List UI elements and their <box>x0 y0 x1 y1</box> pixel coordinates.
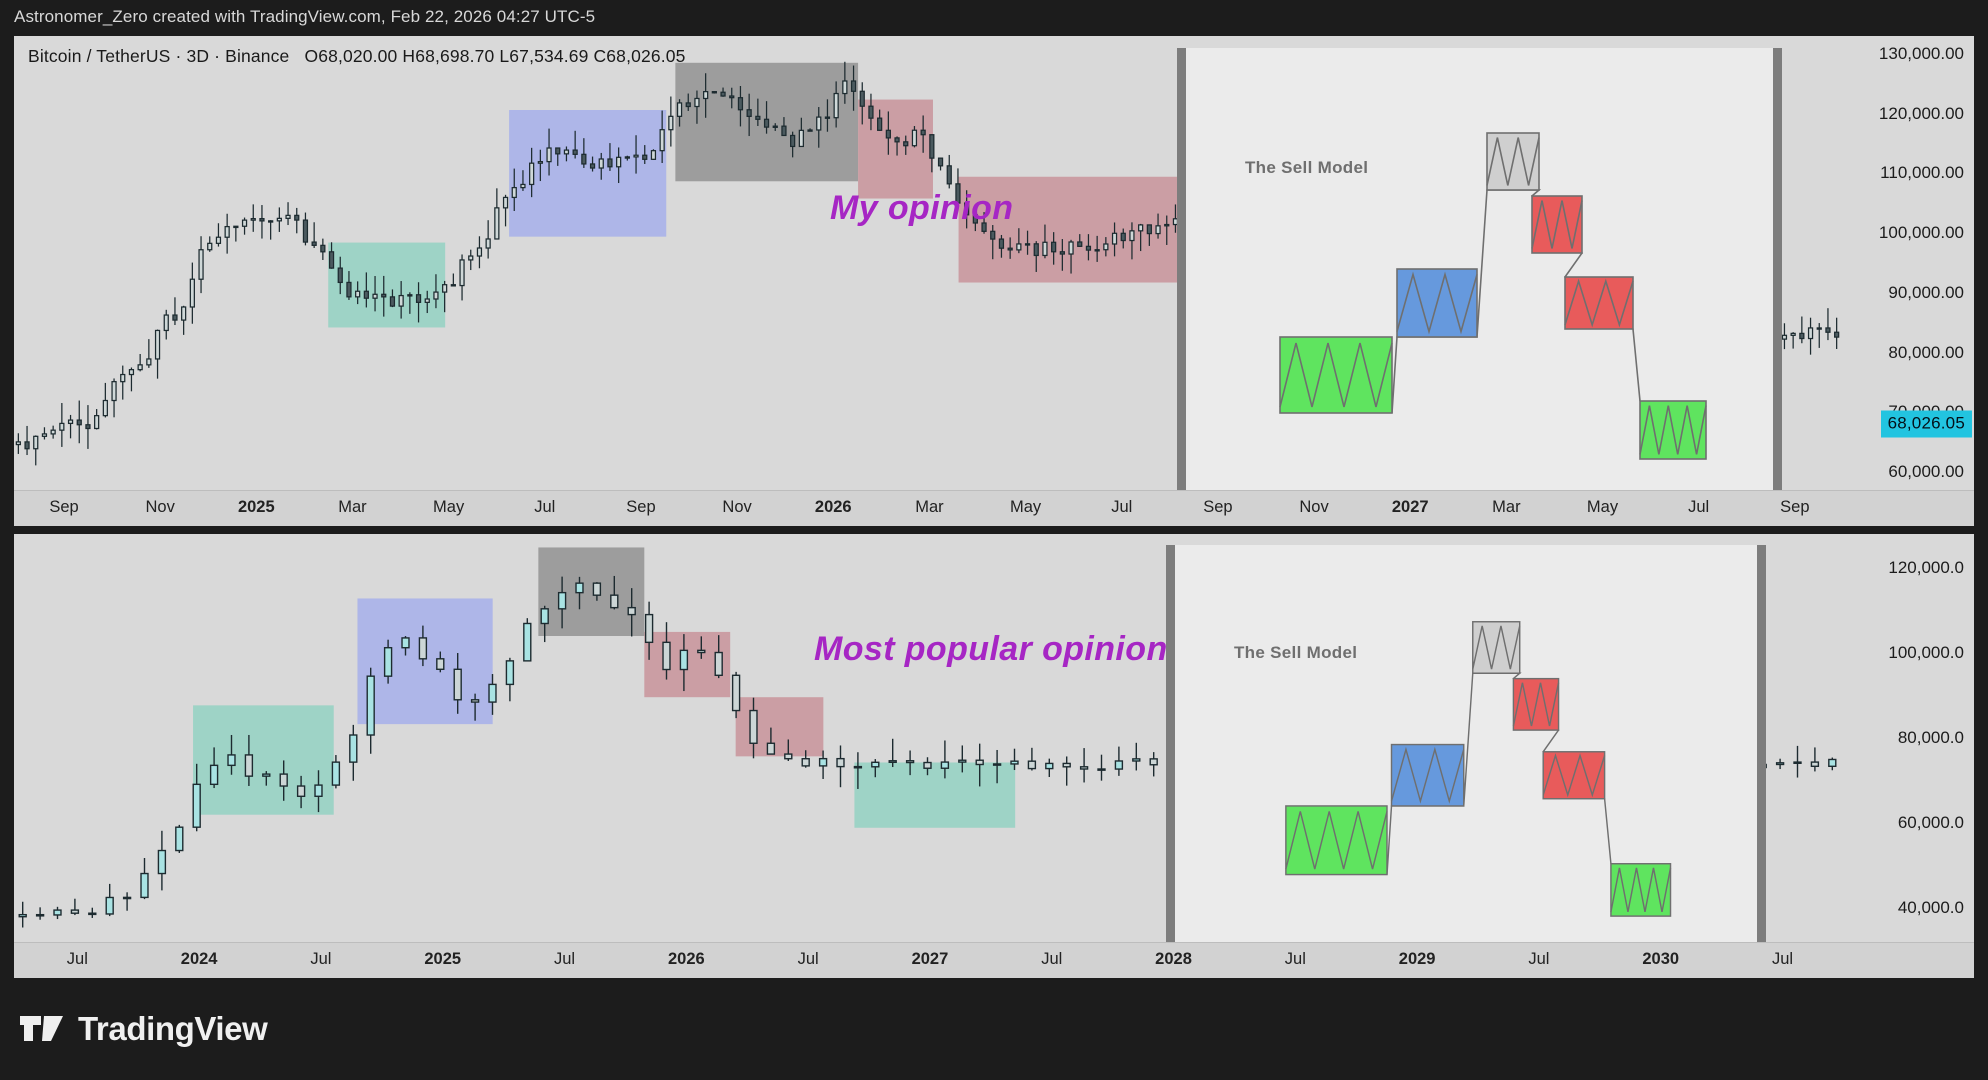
candle-body <box>124 897 131 898</box>
candle-body <box>312 242 316 245</box>
time-tick: Jul <box>798 950 819 969</box>
candle-body <box>16 442 20 445</box>
candle-body <box>712 92 716 93</box>
candle-body <box>559 593 566 609</box>
sell-model-block-re-accumulation <box>1611 864 1671 916</box>
candle-body <box>211 765 218 784</box>
sell-model-block-markdown-1 <box>1532 196 1582 253</box>
time-tick: Sep <box>49 498 78 517</box>
candle-body <box>872 762 879 766</box>
candle-body <box>95 416 99 429</box>
candle-body <box>695 98 699 106</box>
candle-body <box>1104 244 1108 250</box>
candle-body <box>1777 763 1784 765</box>
candle-body <box>1098 769 1105 770</box>
candle-body <box>593 583 600 595</box>
time-tick: 2024 <box>181 950 218 969</box>
candle-body <box>390 297 394 306</box>
candle-body <box>42 434 46 436</box>
candle-body <box>1150 759 1157 765</box>
time-tick: Jul <box>67 950 88 969</box>
sell-model-inset-bottom: The Sell Model <box>1166 545 1766 945</box>
candle-body <box>69 420 73 423</box>
candle-body <box>721 92 725 96</box>
time-scale-top[interactable]: SepNov2025MarMayJulSepNov2026MarMayJulSe… <box>14 490 1974 526</box>
candle-body <box>141 874 148 898</box>
candle-body <box>89 913 96 914</box>
time-tick: 2029 <box>1399 950 1436 969</box>
candle-body <box>77 420 81 425</box>
time-tick: 2027 <box>1392 498 1429 517</box>
time-tick: Jul <box>534 498 555 517</box>
candle-body <box>750 711 757 744</box>
candle-body <box>767 743 774 754</box>
candle-body <box>608 159 612 167</box>
candle-body <box>791 135 795 146</box>
candle-body <box>37 915 44 916</box>
candle-body <box>698 650 705 652</box>
candle-body <box>976 760 983 764</box>
zone-target <box>854 762 1015 827</box>
candle-body <box>277 218 281 220</box>
time-tick: Jul <box>1688 498 1709 517</box>
candle-body <box>1826 328 1830 332</box>
candle-body <box>460 260 464 286</box>
candle-body <box>582 154 586 164</box>
candle-body <box>216 237 220 243</box>
sell-model-diagram-bottom <box>1166 545 1766 945</box>
candle-body <box>25 442 29 449</box>
chart-panel-bottom[interactable]: Most popular opinion The Sell Model 120,… <box>14 534 1974 978</box>
candle-body <box>295 215 299 220</box>
zone-accumulation <box>328 243 445 328</box>
candle-body <box>1829 759 1836 766</box>
candle-body <box>1043 242 1047 255</box>
candle-body <box>1028 761 1035 768</box>
time-scale-bottom[interactable]: Jul2024Jul2025Jul2026Jul2027Jul2028Jul20… <box>14 942 1974 978</box>
time-tick: Sep <box>626 498 655 517</box>
time-tick: 2026 <box>668 950 705 969</box>
candle-body <box>939 158 943 166</box>
candle-body <box>251 219 255 220</box>
sell-model-block-distribution <box>1487 133 1539 190</box>
candle-body <box>1078 242 1082 246</box>
candle-body <box>852 81 856 91</box>
candle-body <box>947 166 951 184</box>
candle-body <box>234 226 238 227</box>
candle-body <box>756 116 760 119</box>
candle-body <box>591 164 595 168</box>
candle-body <box>338 268 342 282</box>
candle-body <box>747 110 751 117</box>
time-tick: 2025 <box>238 498 275 517</box>
candle-body <box>260 219 264 221</box>
candle-body <box>1791 333 1795 335</box>
time-tick: Mar <box>338 498 366 517</box>
price-tick: 90,000.00 <box>1888 283 1964 303</box>
candle-body <box>399 296 403 307</box>
price-tick: 40,000.0 <box>1898 898 1964 918</box>
candle-body <box>19 915 26 917</box>
candle-body <box>382 294 386 297</box>
candle-body <box>425 299 429 302</box>
candle-body <box>182 307 186 320</box>
candle-body <box>889 761 896 763</box>
candle-body <box>504 197 508 207</box>
candle-body <box>286 215 290 218</box>
candle-body <box>817 117 821 130</box>
candle-body <box>443 285 447 292</box>
candle-body <box>530 163 534 184</box>
candle-body <box>147 359 151 365</box>
candle-body <box>112 382 116 401</box>
candle-body <box>367 676 374 735</box>
candle-body <box>385 648 392 676</box>
candle-body <box>1063 763 1070 766</box>
candle-body <box>834 94 838 118</box>
candle-body <box>512 188 516 198</box>
sell-model-block-accumulation <box>1280 337 1392 413</box>
candle-body <box>895 138 899 142</box>
candle-body <box>364 291 368 298</box>
candle-body <box>785 754 792 759</box>
sell-model-block-markdown-2 <box>1565 277 1633 329</box>
tradingview-screenshot: Astronomer_Zero created with TradingView… <box>0 0 1988 1080</box>
candle-body <box>808 130 812 131</box>
candle-body <box>547 148 551 162</box>
candle-body <box>1095 250 1099 251</box>
inset-rail-right-top <box>1773 48 1782 491</box>
candle-body <box>156 330 160 359</box>
candle-body <box>765 119 769 127</box>
time-tick: Sep <box>1203 498 1232 517</box>
candle-body <box>802 759 809 766</box>
candle-body <box>269 221 273 222</box>
candle-body <box>886 130 890 138</box>
candle-body <box>663 642 670 669</box>
sell-model-block-markdown-2 <box>1543 752 1604 799</box>
price-tick: 60,000.0 <box>1898 813 1964 833</box>
candle-body <box>451 285 455 286</box>
candle-body <box>1121 233 1125 240</box>
sell-model-block-markup <box>1392 745 1464 806</box>
candle-body <box>1034 244 1038 256</box>
zone-distribution <box>538 547 644 636</box>
candle-body <box>538 162 542 164</box>
time-tick: 2028 <box>1155 950 1192 969</box>
candle-body <box>330 252 334 268</box>
time-tick: 2025 <box>424 950 461 969</box>
candle-body <box>408 295 412 296</box>
candle-body <box>190 279 194 307</box>
candle-body <box>634 155 638 157</box>
candle-body <box>941 762 948 768</box>
candle-body <box>878 118 882 130</box>
tradingview-wordmark: TradingView <box>78 1010 267 1048</box>
price-tick: 100,000.00 <box>1879 223 1964 243</box>
candle-body <box>1008 248 1012 250</box>
price-scale-bottom[interactable]: 120,000.0100,000.080,000.060,000.040,000… <box>1841 534 1974 978</box>
time-tick: May <box>1587 498 1618 517</box>
time-tick: May <box>1010 498 1041 517</box>
price-tick: 130,000.00 <box>1879 44 1964 64</box>
candle-body <box>106 897 113 914</box>
candle-body <box>321 245 325 251</box>
attribution-bar: Astronomer_Zero created with TradingView… <box>0 0 1988 34</box>
candle-body <box>678 103 682 116</box>
candle-body <box>738 98 742 110</box>
candle-body <box>263 774 270 776</box>
candle-body <box>599 159 603 168</box>
candle-body <box>999 239 1003 248</box>
candle-body <box>617 157 621 166</box>
candle-body <box>477 248 481 256</box>
candle-body <box>1156 226 1160 234</box>
candle-body <box>1086 246 1090 250</box>
candle-body <box>350 735 357 762</box>
candle-body <box>332 762 339 785</box>
candle-body <box>486 239 490 248</box>
candle-body <box>489 684 496 702</box>
candle-body <box>173 315 177 320</box>
candle-body <box>576 583 583 592</box>
candle-body <box>469 256 473 260</box>
inset-title-bottom: The Sell Model <box>1234 643 1357 663</box>
legend-ohlc: O68,020.00 H68,698.70 L67,534.69 C68,026… <box>304 46 685 66</box>
price-tick: 110,000.00 <box>1880 163 1964 183</box>
candle-body <box>356 291 360 297</box>
time-tick: Mar <box>1492 498 1520 517</box>
time-tick: Nov <box>1299 498 1328 517</box>
time-tick: Mar <box>915 498 943 517</box>
candle-body <box>298 786 305 796</box>
sell-model-inset-top: The Sell Model <box>1177 48 1782 491</box>
sell-model-diagram-top <box>1177 48 1782 491</box>
inset-title-top: The Sell Model <box>1245 158 1368 178</box>
candle-body <box>680 650 687 669</box>
candle-body <box>773 126 777 127</box>
candle-body <box>782 126 786 135</box>
candle-body <box>628 608 635 615</box>
time-tick: Sep <box>1780 498 1809 517</box>
tradingview-mark-icon <box>20 1014 64 1044</box>
candle-body <box>541 609 548 624</box>
candle-body <box>1081 767 1088 769</box>
price-tick: 120,000.00 <box>1879 104 1964 124</box>
candle-body <box>994 764 1001 765</box>
candle-body <box>1017 244 1021 250</box>
candle-body <box>129 370 133 375</box>
candle-body <box>347 282 351 296</box>
candle-body <box>199 250 203 279</box>
candle-body <box>837 759 844 767</box>
candle-body <box>1115 761 1122 769</box>
candle-body <box>506 661 513 685</box>
zone-markdown-2 <box>736 697 824 756</box>
sell-model-block-accumulation <box>1286 806 1387 875</box>
sell-model-block-markdown-1 <box>1513 679 1558 730</box>
candle-body <box>643 155 647 159</box>
candle-body <box>959 760 966 762</box>
candle-body <box>912 130 916 145</box>
candle-body <box>1782 335 1786 339</box>
sell-model-block-distribution <box>1473 622 1520 673</box>
candle-body <box>820 759 827 766</box>
candle-body <box>454 669 461 699</box>
current-price-badge[interactable]: 68,026.05 <box>1881 411 1972 438</box>
candle-body <box>715 653 722 676</box>
candle-body <box>869 106 873 118</box>
candle-body <box>521 184 525 187</box>
candle-body <box>51 430 55 434</box>
time-tick: Jul <box>310 950 331 969</box>
inset-rail-right-bottom <box>1757 545 1766 945</box>
candle-body <box>138 365 142 370</box>
candle-body <box>524 623 531 660</box>
candle-body <box>733 675 740 710</box>
candle-body <box>176 827 183 850</box>
inset-rail-left-bottom <box>1166 545 1175 945</box>
candle-body <box>472 700 479 702</box>
candle-body <box>315 785 322 796</box>
candle-body <box>434 292 438 299</box>
time-tick: Jul <box>1111 498 1132 517</box>
candle-body <box>556 148 560 154</box>
candle-body <box>625 157 629 158</box>
annotation-my-opinion: My opinion <box>830 189 1013 228</box>
candle-body <box>419 638 426 659</box>
candle-body <box>1052 242 1056 251</box>
candle-body <box>660 130 664 151</box>
candle-body <box>1113 233 1117 244</box>
candle-body <box>228 755 235 765</box>
candle-body <box>860 91 864 106</box>
time-tick: Jul <box>1285 950 1306 969</box>
candle-body <box>1046 763 1053 768</box>
candle-body <box>86 425 90 429</box>
time-tick: Jul <box>1041 950 1062 969</box>
candle-body <box>1139 225 1143 231</box>
candle-body <box>1011 761 1018 764</box>
candle-body <box>1069 242 1073 254</box>
candle-body <box>1133 759 1140 761</box>
tradingview-logo[interactable]: TradingView <box>20 1010 267 1048</box>
time-tick: Jul <box>1772 950 1793 969</box>
price-tick: 100,000.0 <box>1888 643 1964 663</box>
candle-body <box>1809 328 1813 339</box>
time-tick: Nov <box>145 498 174 517</box>
price-tick: 60,000.00 <box>1888 462 1964 482</box>
candle-body <box>573 150 577 154</box>
candle-body <box>1835 332 1839 337</box>
time-tick: Jul <box>1528 950 1549 969</box>
candle-body <box>437 659 444 669</box>
candle-body <box>1800 333 1804 338</box>
price-tick: 120,000.0 <box>1888 558 1964 578</box>
candle-body <box>704 92 708 99</box>
candle-body <box>417 295 421 303</box>
candle-body <box>799 130 803 146</box>
candle-body <box>303 220 307 242</box>
candle-body <box>158 851 165 874</box>
time-tick: Nov <box>722 498 751 517</box>
attribution-text: Astronomer_Zero created with TradingView… <box>14 7 595 27</box>
price-tick: 80,000.0 <box>1898 728 1964 748</box>
candle-body <box>564 150 568 154</box>
chart-panel-top[interactable]: My opinion The Sell Model Bitcoin / Teth… <box>14 36 1974 526</box>
legend-symbol: Bitcoin / TetherUS · 3D · Binance <box>28 46 289 66</box>
candle-body <box>71 910 78 913</box>
candle-body <box>1130 231 1134 241</box>
zone-markup <box>357 598 492 724</box>
candle-body <box>402 638 409 648</box>
candle-body <box>1147 225 1151 234</box>
price-tick: 80,000.00 <box>1888 343 1964 363</box>
candle-body <box>60 423 64 430</box>
candle-body <box>1026 244 1030 245</box>
candle-body <box>54 910 61 915</box>
candle-body <box>1811 762 1818 766</box>
time-tick: 2026 <box>815 498 852 517</box>
candle-body <box>904 142 908 146</box>
candle-body <box>611 595 618 607</box>
candle-body <box>651 151 655 160</box>
candle-body <box>34 436 38 448</box>
candle-body <box>924 763 931 769</box>
candle-body <box>1060 252 1064 254</box>
candle-body <box>121 375 125 382</box>
candle-body <box>208 243 212 249</box>
candle-body <box>193 784 200 827</box>
footer-bar: TradingView <box>0 978 1988 1080</box>
candle-body <box>373 294 377 298</box>
candle-body <box>825 117 829 118</box>
candle-body <box>243 220 247 226</box>
candle-body <box>495 208 499 239</box>
candle-body <box>1817 328 1821 329</box>
time-tick: May <box>433 498 464 517</box>
candle-body <box>907 761 914 763</box>
candle-body <box>245 755 252 776</box>
sell-model-block-re-accumulation <box>1640 401 1706 459</box>
annotation-most-popular-opinion: Most popular opinion <box>814 630 1168 669</box>
candle-body <box>854 767 861 768</box>
candle-body <box>225 227 229 238</box>
candle-body <box>730 96 734 98</box>
candle-body <box>280 774 287 786</box>
sell-model-block-markup <box>1397 269 1477 337</box>
time-tick: Jul <box>554 950 575 969</box>
price-scale-top[interactable]: A 130,000.00120,000.00110,000.00100,000.… <box>1841 36 1974 526</box>
candle-body <box>930 135 934 158</box>
candle-body <box>921 130 925 134</box>
candle-body <box>164 315 168 330</box>
candle-body <box>843 81 847 94</box>
candle-body <box>646 615 653 643</box>
candle-body <box>1794 762 1801 763</box>
time-tick: 2027 <box>912 950 949 969</box>
symbol-legend-top[interactable]: Bitcoin / TetherUS · 3D · Binance O68,02… <box>28 46 686 67</box>
candle-body <box>669 116 673 129</box>
candle-body <box>686 103 690 107</box>
candle-body <box>1165 225 1169 226</box>
candle-body <box>991 231 995 239</box>
inset-rail-left-top <box>1177 48 1186 491</box>
time-tick: 2030 <box>1642 950 1679 969</box>
candle-body <box>103 401 107 416</box>
